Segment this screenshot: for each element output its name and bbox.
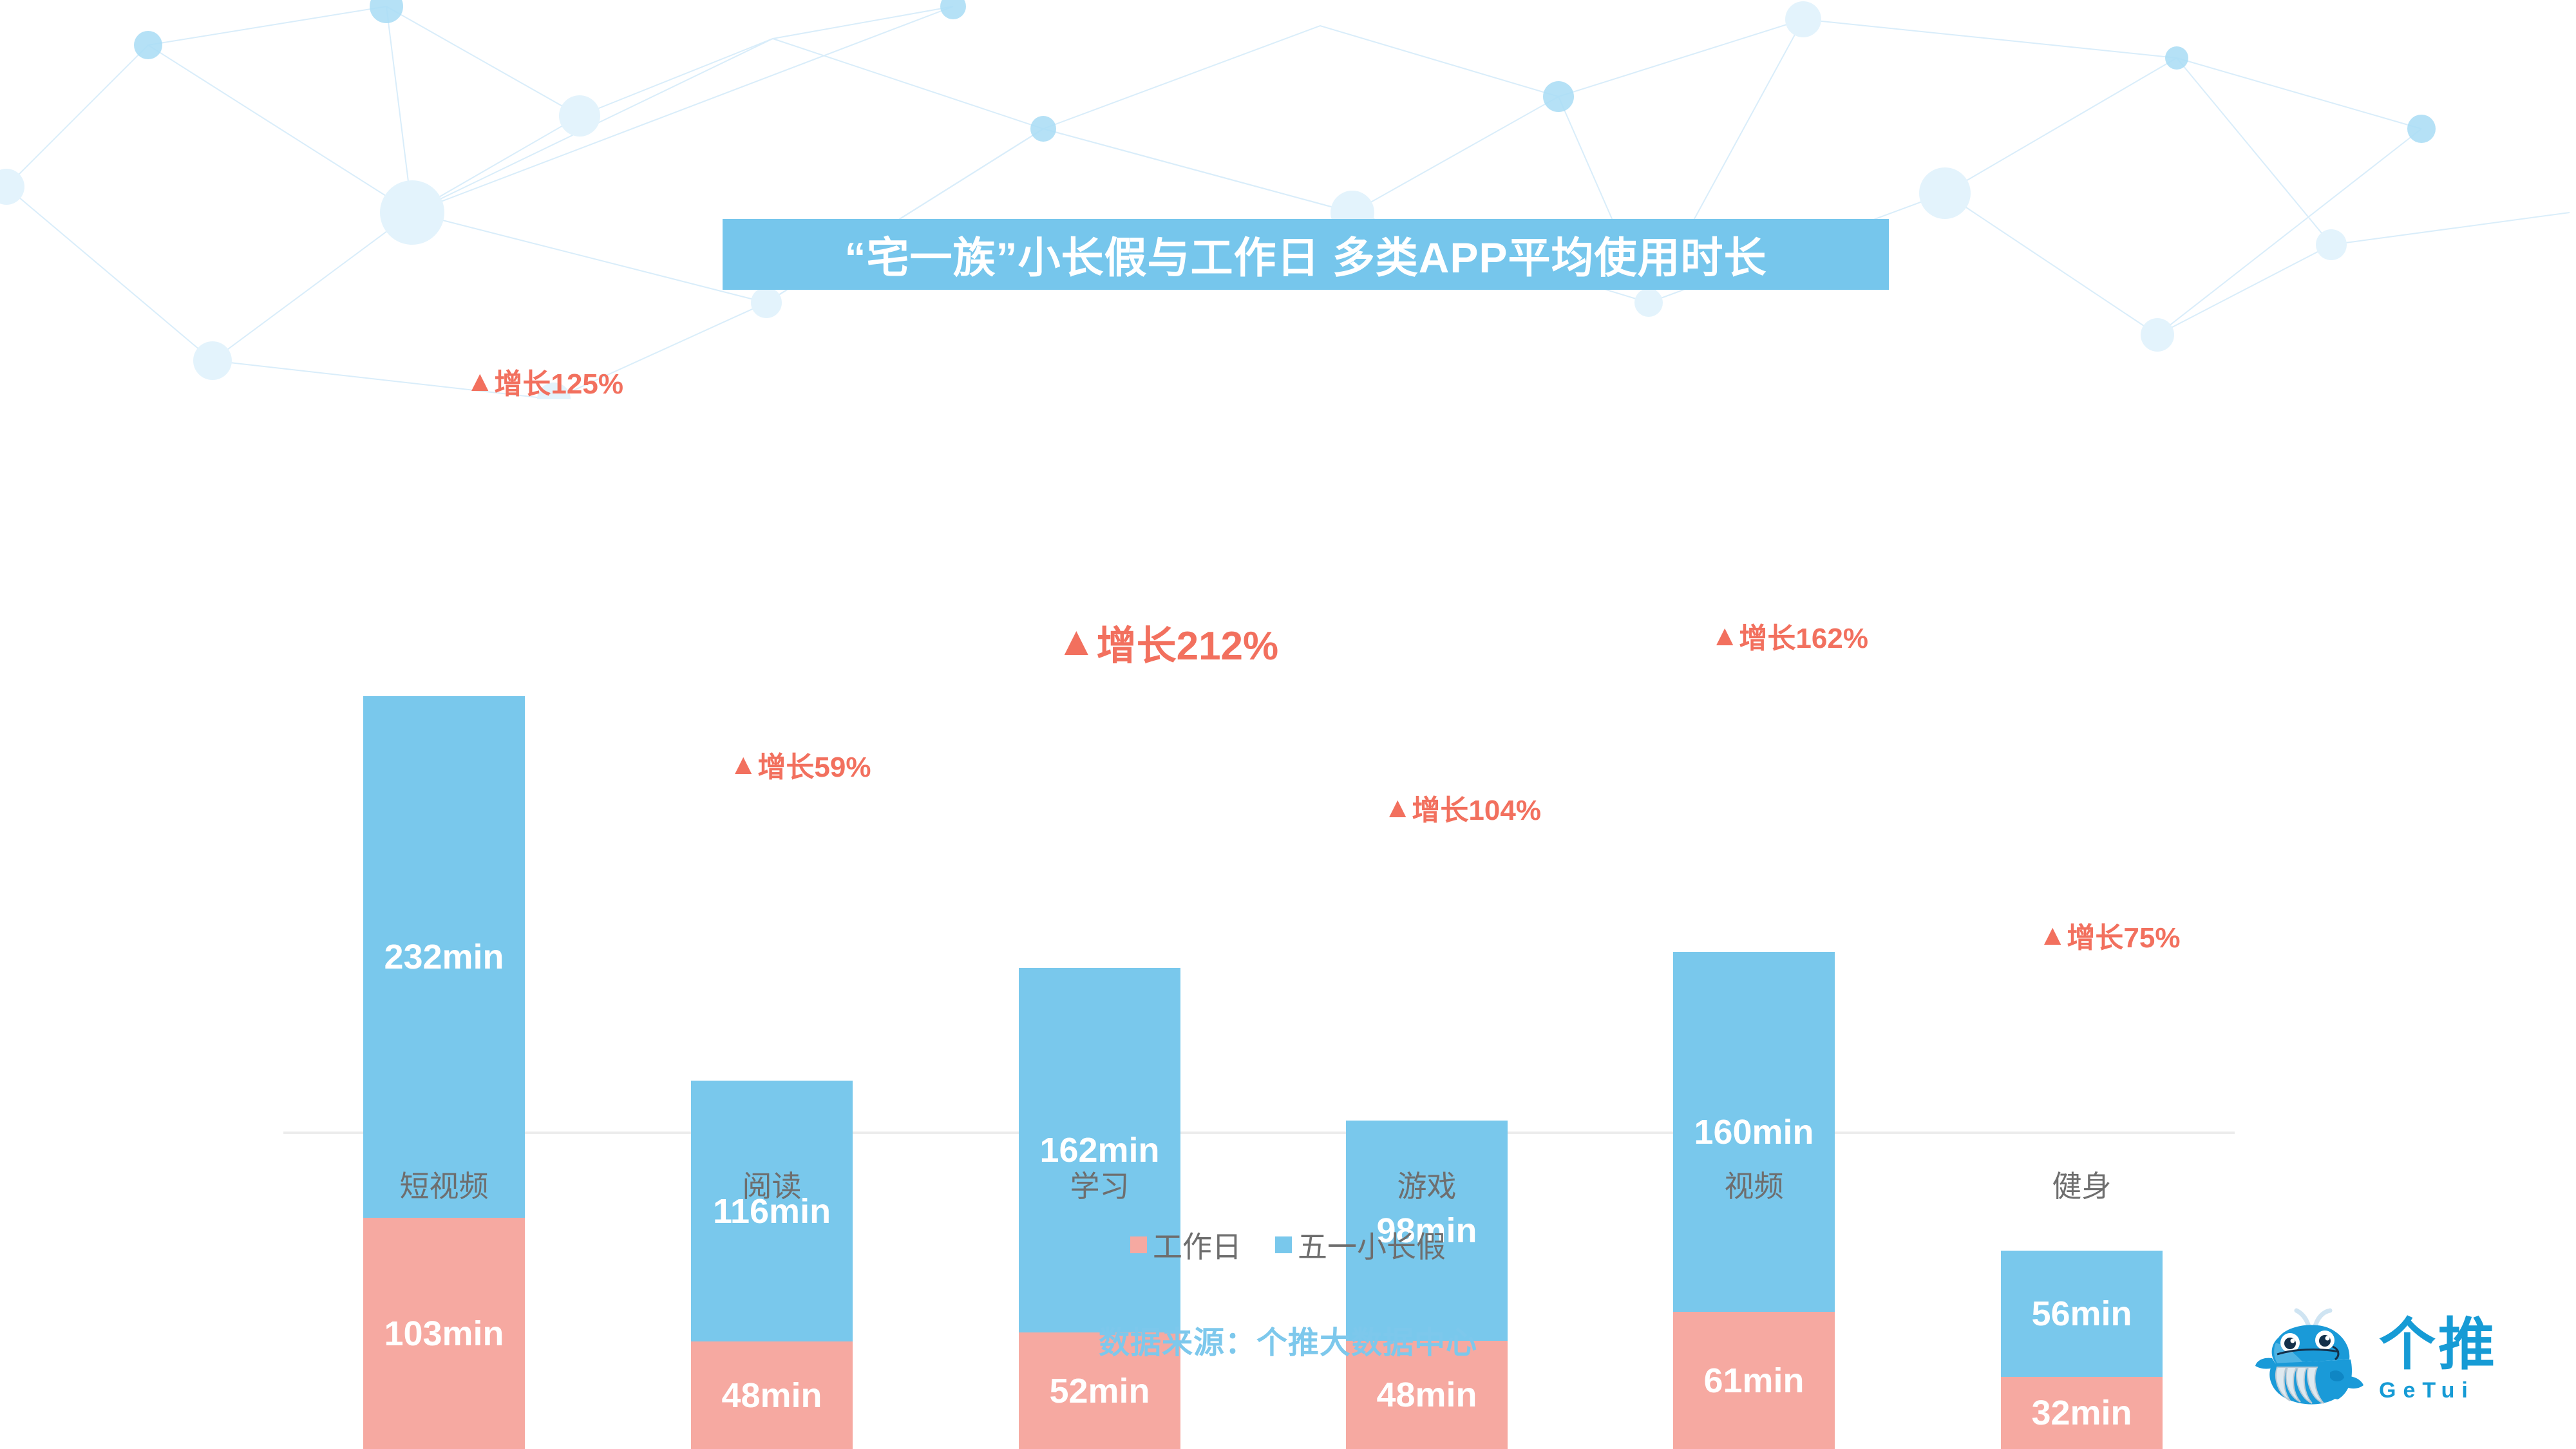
category-label-2: 学习 xyxy=(987,1163,1213,1206)
data-source-note: 数据来源：个推大数据中心 xyxy=(0,1317,2576,1362)
bar-segment-holiday-0[interactable]: 232min xyxy=(363,696,525,1218)
growth-annotation-text-2: 增长212% xyxy=(1097,613,1279,671)
growth-annotation-0: ▲ 增长125% xyxy=(466,361,623,402)
bar-segment-holiday-2[interactable]: 162min xyxy=(1019,968,1180,1332)
category-label-4: 视频 xyxy=(1641,1163,1867,1206)
growth-annotation-4: ▲ 增长162% xyxy=(1710,615,1868,656)
growth-annotation-5: ▲ 增长75% xyxy=(2038,914,2181,956)
triangle-up-icon: ▲ xyxy=(2038,921,2065,950)
legend-swatch-holiday xyxy=(1275,1236,1292,1253)
whale-icon xyxy=(2248,1304,2370,1414)
bar-value-weekday-5: 32min xyxy=(2031,1393,2132,1433)
triangle-up-icon: ▲ xyxy=(1383,793,1410,822)
x-axis-baseline xyxy=(283,1132,2235,1134)
growth-annotation-text-4: 增长162% xyxy=(1739,615,1868,656)
bar-segment-holiday-1[interactable]: 116min xyxy=(691,1081,853,1341)
category-label-3: 游戏 xyxy=(1314,1163,1540,1206)
growth-annotation-text-0: 增长125% xyxy=(494,361,623,402)
triangle-up-icon: ▲ xyxy=(1056,621,1095,662)
chart-legend: 工作日 五一小长假 xyxy=(0,1224,2576,1266)
growth-annotation-text-1: 增长59% xyxy=(757,744,871,785)
growth-annotation-2: ▲ 增长212% xyxy=(1056,613,1278,671)
bar-value-weekday-3: 48min xyxy=(1376,1375,1477,1415)
growth-annotation-text-5: 增长75% xyxy=(2067,914,2180,956)
bar-value-weekday-2: 52min xyxy=(1049,1371,1150,1411)
legend-label-holiday: 五一小长假 xyxy=(1298,1224,1446,1266)
growth-annotation-1: ▲ 增长59% xyxy=(729,744,871,785)
category-label-5: 健身 xyxy=(1969,1163,2195,1206)
bar-column-2[interactable]: 162min 52min xyxy=(1019,968,1180,1449)
legend-item-weekday[interactable]: 工作日 xyxy=(1130,1224,1242,1266)
bar-value-holiday-4: 160min xyxy=(1694,1112,1814,1152)
triangle-up-icon: ▲ xyxy=(466,367,493,396)
legend-item-holiday[interactable]: 五一小长假 xyxy=(1275,1224,1446,1266)
triangle-up-icon: ▲ xyxy=(1710,621,1738,650)
logo-text-cn: 个推 xyxy=(2379,1316,2497,1373)
bar-value-weekday-4: 61min xyxy=(1703,1361,1804,1401)
category-label-0: 短视频 xyxy=(331,1163,557,1206)
logo-wordmark: 个推 GeTui xyxy=(2379,1316,2497,1401)
category-label-1: 阅读 xyxy=(659,1163,885,1206)
legend-label-weekday: 工作日 xyxy=(1153,1224,1242,1266)
logo-text-en: GeTui xyxy=(2379,1379,2497,1401)
bar-value-holiday-0: 232min xyxy=(384,937,504,977)
bar-segment-weekday-5[interactable]: 32min xyxy=(2001,1377,2163,1449)
legend-swatch-weekday xyxy=(1130,1236,1147,1253)
triangle-up-icon: ▲ xyxy=(729,750,756,779)
growth-annotation-3: ▲ 增长104% xyxy=(1383,787,1541,828)
getui-logo: 个推 GeTui xyxy=(2248,1294,2550,1423)
bar-value-weekday-1: 48min xyxy=(721,1376,822,1416)
growth-annotation-text-3: 增长104% xyxy=(1412,787,1541,828)
